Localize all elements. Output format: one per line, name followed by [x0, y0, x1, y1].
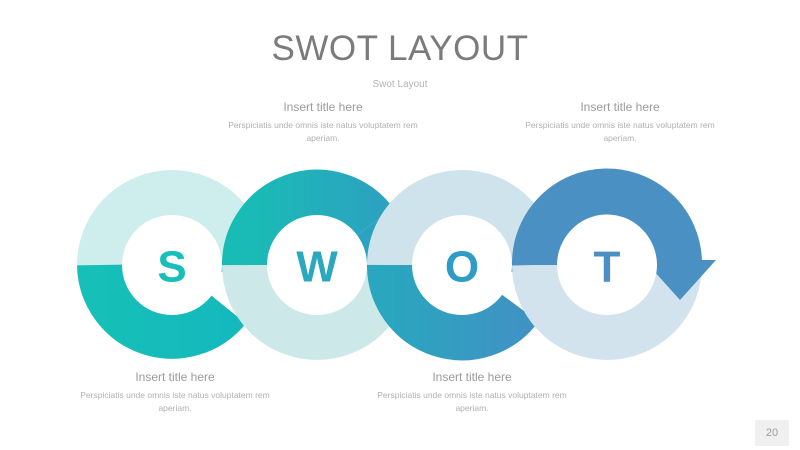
- callout-bottom-right-title: Insert title here: [377, 369, 567, 386]
- swot-diagram: S W O: [0, 150, 800, 370]
- swot-node-s-letter: S: [157, 243, 186, 292]
- page-title: SWOT LAYOUT: [0, 28, 800, 70]
- slide: SWOT LAYOUT Swot Layout: [0, 0, 800, 450]
- callout-top-right-body: Perspiciatis unde omnis iste natus volup…: [525, 119, 715, 145]
- callout-bottom-right: Insert title here Perspiciatis unde omni…: [377, 369, 567, 415]
- callout-top-left-body: Perspiciatis unde omnis iste natus volup…: [228, 119, 418, 145]
- swot-node-o-letter: O: [445, 243, 479, 292]
- page-number-badge: 20: [755, 420, 789, 446]
- callout-bottom-left: Insert title here Perspiciatis unde omni…: [80, 369, 270, 415]
- page-subtitle: Swot Layout: [0, 78, 800, 92]
- swot-node-t-letter: T: [594, 243, 621, 292]
- callout-bottom-right-body: Perspiciatis unde omnis iste natus volup…: [377, 389, 567, 415]
- callout-top-left: Insert title here Perspiciatis unde omni…: [228, 99, 418, 145]
- callout-bottom-left-title: Insert title here: [80, 369, 270, 386]
- callout-top-right-title: Insert title here: [525, 99, 715, 116]
- swot-diagram-svg: S W O: [0, 150, 800, 370]
- callout-top-right: Insert title here Perspiciatis unde omni…: [525, 99, 715, 145]
- swot-node-t[interactable]: T: [535, 191, 716, 336]
- callout-bottom-left-body: Perspiciatis unde omnis iste natus volup…: [80, 389, 270, 415]
- swot-node-w-letter: W: [296, 243, 338, 292]
- callout-top-left-title: Insert title here: [228, 99, 418, 116]
